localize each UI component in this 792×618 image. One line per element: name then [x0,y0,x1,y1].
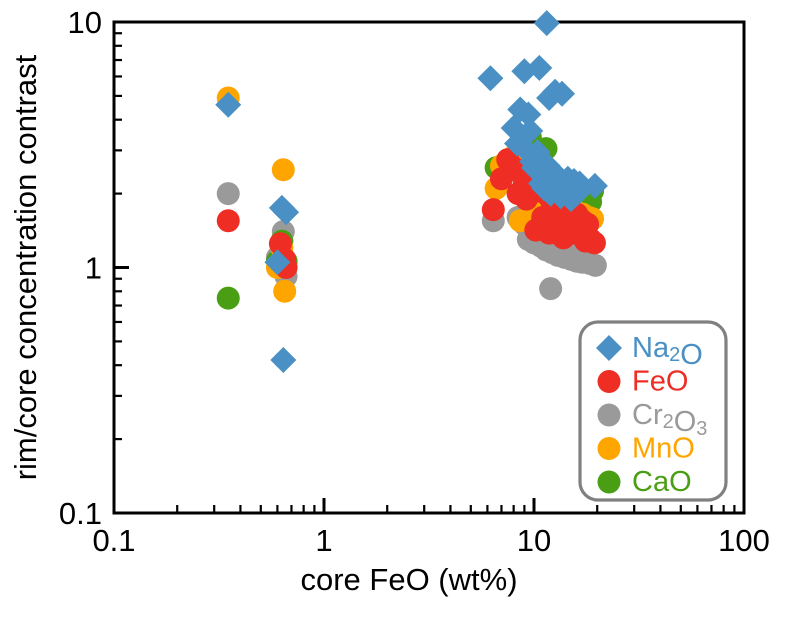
y-tick-label: 1 [85,251,102,286]
x-tick-label: 10 [517,523,551,558]
y-tick-label: 10 [68,5,102,40]
data-point [217,182,240,205]
data-point [584,254,607,277]
data-point [272,158,295,181]
axis-labels-group: 0.11101000.1110core FeO (wt%)rim/core co… [8,5,770,597]
data-point [273,280,296,303]
data-points-group [215,10,608,373]
data-point [477,65,503,91]
legend-marker-cao [598,471,621,494]
plot-canvas: 0.11101000.1110core FeO (wt%)rim/core co… [0,0,792,618]
legend-label-mno: MnO [632,432,695,464]
x-tick-label: 1 [315,523,332,558]
data-point [270,347,296,373]
data-point [217,209,240,232]
legend-marker-cr2o3 [598,404,621,427]
data-point [552,226,575,249]
data-point [539,277,562,300]
y-axis-title: rim/core concentration contrast [8,54,43,480]
legend-marker-feo [598,370,621,393]
legend-marker-mno [598,437,621,460]
data-point [507,182,530,205]
x-tick-label: 100 [718,523,770,558]
scatter-plot-figure: 0.11101000.1110core FeO (wt%)rim/core co… [0,0,792,618]
series-na2o [215,10,608,373]
legend-label-feo: FeO [632,365,688,397]
legend-label-cao: CaO [632,466,692,498]
data-point [482,198,505,221]
y-tick-label: 0.1 [59,496,102,531]
x-axis-title: core FeO (wt%) [300,562,517,597]
data-point [217,287,240,310]
data-point [583,231,606,254]
chart-legend[interactable]: Na2OFeOCr2O3MnOCaO [580,322,726,500]
data-point [534,10,560,36]
